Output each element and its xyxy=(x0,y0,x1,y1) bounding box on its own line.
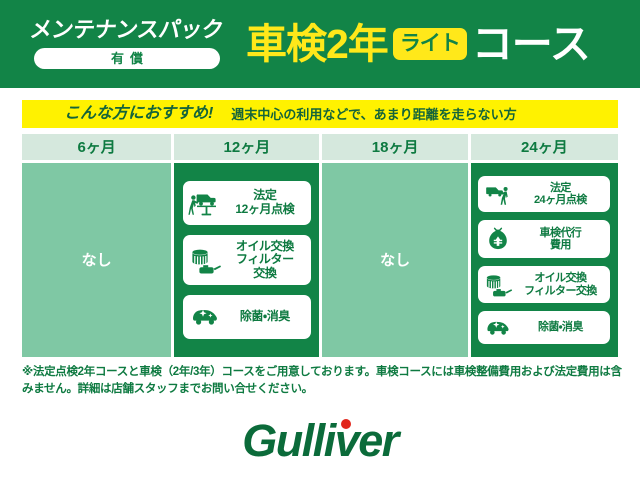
gulliver-logo-text: Gulliver xyxy=(242,415,398,466)
paid-pill: 有償 xyxy=(34,48,220,69)
course-title-suffix: コース xyxy=(472,24,590,65)
gulliver-logo: Gulliver xyxy=(242,418,398,463)
column-header-6m-label: 6ヶ月 xyxy=(77,140,115,155)
column-header-6m: 6ヶ月 xyxy=(22,134,171,160)
cell-18m-none-label: なし xyxy=(380,253,410,268)
cell-12m: 法定 12ヶ月点検 xyxy=(174,163,319,357)
oil-can-filter-icon xyxy=(482,271,514,298)
course-title-main: 車検2年 xyxy=(246,24,388,65)
column-header-12m: 12ヶ月 xyxy=(174,134,319,160)
service-card-oil-change-24m: オイル交換 フィルター交換 xyxy=(478,266,610,303)
service-card-oil-change-12m-label: オイル交換 フィルター 交換 xyxy=(223,240,307,280)
column-header-12m-label: 12ヶ月 xyxy=(224,140,271,155)
service-card-sanitize-12m-label: 除菌・消臭 xyxy=(223,310,307,323)
service-card-legal-inspection-12m-label: 法定 12ヶ月点検 xyxy=(223,189,307,216)
service-card-sanitize-24m-label: 除菌・消臭 xyxy=(514,321,606,333)
money-bag-yen-icon xyxy=(482,225,514,253)
car-on-lift-inspection-icon xyxy=(482,181,514,207)
footnote: ※法定点検2年コースと車検（2年/3年）コースをご用意しております。車検コースに… xyxy=(22,364,622,397)
service-card-oil-change-24m-label: オイル交換 フィルター交換 xyxy=(514,272,606,297)
service-card-legal-inspection-24m-label: 法定 24ヶ月点検 xyxy=(514,182,606,207)
car-on-lift-inspection-icon xyxy=(187,189,223,217)
car-sanitize-icon xyxy=(482,318,514,338)
header-right-group: 車検2年 ライト コース xyxy=(246,24,640,65)
header-band: メンテナンスパック 有償 車検2年 ライト コース xyxy=(0,0,640,88)
service-card-legal-inspection-12m: 法定 12ヶ月点検 xyxy=(183,181,311,225)
service-card-legal-inspection-24m: 法定 24ヶ月点検 xyxy=(478,176,610,212)
service-card-sanitize-12m: 除菌・消臭 xyxy=(183,295,311,339)
recommend-title: こんな方におすすめ! xyxy=(64,106,213,122)
cell-24m: 法定 24ヶ月点検 車検代行 費用 xyxy=(471,163,618,357)
column-header-24m-label: 24ヶ月 xyxy=(521,140,568,155)
pack-title: メンテナンスパック xyxy=(29,19,225,41)
column-header-18m: 18ヶ月 xyxy=(322,134,467,160)
recommend-description: 週末中心の利用などで、あまり距離を走らない方 xyxy=(231,108,516,121)
table-body-row: なし xyxy=(22,163,618,357)
service-card-inspection-agency-fee-24m-label: 車検代行 費用 xyxy=(514,227,606,252)
cell-18m: なし xyxy=(322,163,467,357)
table-header-row: 6ヶ月 12ヶ月 18ヶ月 24ヶ月 xyxy=(22,134,618,160)
column-header-24m: 24ヶ月 xyxy=(471,134,618,160)
service-card-oil-change-12m: オイル交換 フィルター 交換 xyxy=(183,235,311,285)
service-card-sanitize-24m: 除菌・消臭 xyxy=(478,311,610,344)
service-card-inspection-agency-fee-24m: 車検代行 費用 xyxy=(478,220,610,258)
service-schedule-table: 6ヶ月 12ヶ月 18ヶ月 24ヶ月 なし xyxy=(22,134,618,357)
brand-logo-area: Gulliver xyxy=(0,412,640,468)
light-badge: ライト xyxy=(393,28,467,60)
car-sanitize-icon xyxy=(187,306,223,328)
oil-can-filter-icon xyxy=(187,245,223,275)
paid-pill-label: 有償 xyxy=(105,52,149,65)
recommend-bar: こんな方におすすめ! 週末中心の利用などで、あまり距離を走らない方 xyxy=(22,100,618,128)
maintenance-pack-poster: メンテナンスパック 有償 車検2年 ライト コース こんな方におすすめ! 週末中… xyxy=(0,0,640,480)
gulliver-logo-dot xyxy=(341,419,351,429)
cell-6m: なし xyxy=(22,163,171,357)
header-left-group: メンテナンスパック 有償 xyxy=(16,19,238,69)
cell-6m-none-label: なし xyxy=(82,253,112,268)
column-header-18m-label: 18ヶ月 xyxy=(372,140,419,155)
